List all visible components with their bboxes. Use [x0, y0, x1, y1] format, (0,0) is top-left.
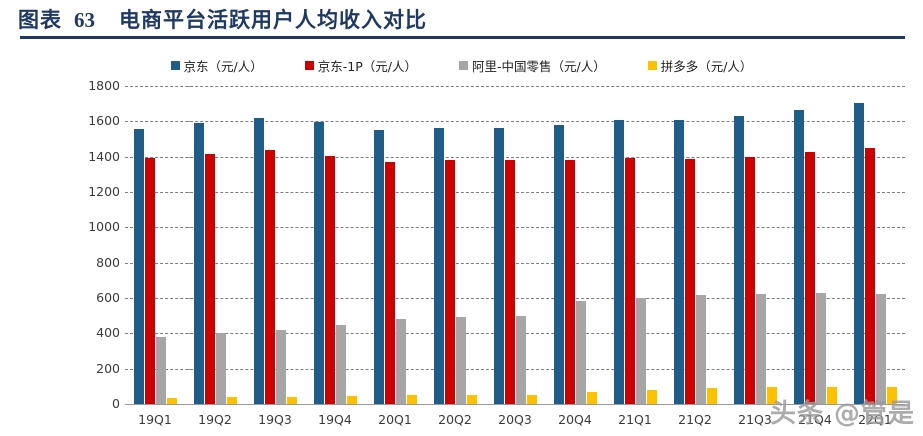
bar-group-21Q3: [725, 86, 785, 404]
y-tick-600: 600: [76, 290, 120, 305]
bar-20Q3-s3[interactable]: [527, 395, 537, 404]
x-axis-labels: 19Q119Q219Q319Q420Q120Q220Q320Q421Q121Q2…: [125, 408, 905, 432]
bar-21Q1-s1[interactable]: [625, 158, 635, 404]
square-swatch-icon: [171, 61, 180, 70]
legend-item-1: 京东-1P（元/人）: [305, 56, 417, 75]
bar-21Q4-s3[interactable]: [827, 387, 837, 404]
y-tick-800: 800: [76, 255, 120, 270]
x-tick-21Q2: 21Q2: [665, 408, 725, 432]
bar-21Q1-s2[interactable]: [636, 298, 646, 404]
x-tick-19Q1: 19Q1: [125, 408, 185, 432]
x-tick-21Q1: 21Q1: [605, 408, 665, 432]
figure-title-text: 电商平台活跃用户人均收入对比: [119, 4, 427, 34]
bar-19Q2-s1[interactable]: [205, 154, 215, 404]
legend-item-0: 京东（元/人）: [171, 56, 263, 75]
page-title: 图表 63 电商平台活跃用户人均收入对比: [18, 4, 427, 34]
square-swatch-icon: [648, 61, 657, 70]
x-tick-19Q2: 19Q2: [185, 408, 245, 432]
bars-layer: [125, 86, 905, 404]
bar-20Q2-s0[interactable]: [434, 128, 444, 404]
bar-19Q3-s3[interactable]: [287, 397, 297, 404]
x-tick-21Q4: 21Q4: [785, 408, 845, 432]
x-tick-22Q1: 22Q1: [845, 408, 905, 432]
bar-group-21Q2: [665, 86, 725, 404]
bar-20Q2-s3[interactable]: [467, 395, 477, 404]
bar-20Q1-s1[interactable]: [385, 162, 395, 404]
bar-21Q3-s3[interactable]: [767, 387, 777, 404]
bar-19Q2-s3[interactable]: [227, 397, 237, 404]
bar-group-19Q1: [125, 86, 185, 404]
bar-20Q2-s2[interactable]: [456, 317, 466, 404]
chart-plot: 020040060080010001200140016001800 19Q119…: [0, 78, 923, 436]
bar-group-21Q1: [605, 86, 665, 404]
bar-group-20Q3: [485, 86, 545, 404]
bar-group-22Q1: [845, 86, 905, 404]
bar-21Q2-s1[interactable]: [685, 159, 695, 404]
legend-item-2: 阿里-中国零售（元/人）: [459, 56, 606, 75]
bar-20Q1-s3[interactable]: [407, 395, 417, 404]
bar-21Q3-s2[interactable]: [756, 294, 766, 404]
bar-22Q1-s0[interactable]: [854, 103, 864, 404]
bar-19Q3-s0[interactable]: [254, 118, 264, 404]
bar-20Q4-s2[interactable]: [576, 301, 586, 404]
figure-label: 图表: [18, 4, 62, 34]
x-tick-20Q1: 20Q1: [365, 408, 425, 432]
bar-group-19Q3: [245, 86, 305, 404]
y-tick-1800: 1800: [76, 78, 120, 93]
bar-20Q1-s2[interactable]: [396, 319, 406, 404]
legend-label: 京东-1P（元/人）: [318, 56, 417, 75]
legend-item-3: 拼多多（元/人）: [648, 56, 753, 75]
y-tick-1600: 1600: [76, 113, 120, 128]
bar-19Q2-s2[interactable]: [216, 333, 226, 404]
bar-21Q3-s1[interactable]: [745, 157, 755, 404]
bar-21Q4-s0[interactable]: [794, 110, 804, 404]
bar-19Q4-s1[interactable]: [325, 156, 335, 404]
bar-group-20Q4: [545, 86, 605, 404]
bar-19Q3-s1[interactable]: [265, 150, 275, 404]
y-axis-labels: 020040060080010001200140016001800: [68, 86, 120, 404]
y-tick-1400: 1400: [76, 149, 120, 164]
figure-number: 63: [74, 8, 95, 33]
bar-21Q3-s0[interactable]: [734, 116, 744, 404]
bar-21Q1-s3[interactable]: [647, 390, 657, 404]
bar-19Q2-s0[interactable]: [194, 123, 204, 404]
bar-19Q4-s0[interactable]: [314, 122, 324, 404]
bar-19Q3-s2[interactable]: [276, 330, 286, 404]
chart-legend: 京东（元/人）京东-1P（元/人）阿里-中国零售（元/人）拼多多（元/人）: [0, 55, 923, 75]
bar-group-19Q4: [305, 86, 365, 404]
bar-22Q1-s2[interactable]: [876, 294, 886, 404]
bar-19Q4-s3[interactable]: [347, 396, 357, 404]
bar-20Q3-s1[interactable]: [505, 160, 515, 404]
x-tick-20Q3: 20Q3: [485, 408, 545, 432]
bar-20Q4-s1[interactable]: [565, 160, 575, 404]
bar-21Q2-s0[interactable]: [674, 120, 684, 404]
figure-header: 图表 63 电商平台活跃用户人均收入对比: [0, 0, 923, 40]
bar-group-20Q1: [365, 86, 425, 404]
y-tick-1000: 1000: [76, 219, 120, 234]
x-tick-21Q3: 21Q3: [725, 408, 785, 432]
bar-20Q3-s2[interactable]: [516, 316, 526, 404]
y-tick-1200: 1200: [76, 184, 120, 199]
bar-19Q1-s3[interactable]: [167, 398, 177, 404]
legend-label: 京东（元/人）: [184, 56, 263, 75]
bar-19Q1-s2[interactable]: [156, 337, 166, 404]
x-axis-line: [125, 404, 905, 405]
bar-22Q1-s3[interactable]: [887, 387, 897, 404]
bar-20Q1-s0[interactable]: [374, 130, 384, 404]
y-tick-0: 0: [76, 396, 120, 411]
bar-19Q4-s2[interactable]: [336, 325, 346, 405]
bar-21Q1-s0[interactable]: [614, 120, 624, 404]
bar-group-20Q2: [425, 86, 485, 404]
title-divider: [20, 36, 905, 39]
y-tick-200: 200: [76, 361, 120, 376]
y-tick-400: 400: [76, 325, 120, 340]
bar-21Q4-s1[interactable]: [805, 152, 815, 404]
bar-21Q2-s3[interactable]: [707, 388, 717, 404]
bar-21Q2-s2[interactable]: [696, 295, 706, 404]
legend-label: 拼多多（元/人）: [661, 56, 753, 75]
bar-19Q1-s0[interactable]: [134, 129, 144, 404]
bar-group-21Q4: [785, 86, 845, 404]
bar-20Q4-s3[interactable]: [587, 392, 597, 404]
square-swatch-icon: [459, 61, 468, 70]
x-tick-19Q4: 19Q4: [305, 408, 365, 432]
x-tick-19Q3: 19Q3: [245, 408, 305, 432]
bar-21Q4-s2[interactable]: [816, 293, 826, 404]
square-swatch-icon: [305, 61, 314, 70]
bar-20Q4-s0[interactable]: [554, 125, 564, 404]
bar-19Q1-s1[interactable]: [145, 158, 155, 404]
x-tick-20Q2: 20Q2: [425, 408, 485, 432]
legend-label: 阿里-中国零售（元/人）: [472, 56, 606, 75]
x-tick-20Q4: 20Q4: [545, 408, 605, 432]
bar-20Q3-s0[interactable]: [494, 128, 504, 404]
bar-20Q2-s1[interactable]: [445, 160, 455, 404]
bar-22Q1-s1[interactable]: [865, 148, 875, 404]
bar-group-19Q2: [185, 86, 245, 404]
